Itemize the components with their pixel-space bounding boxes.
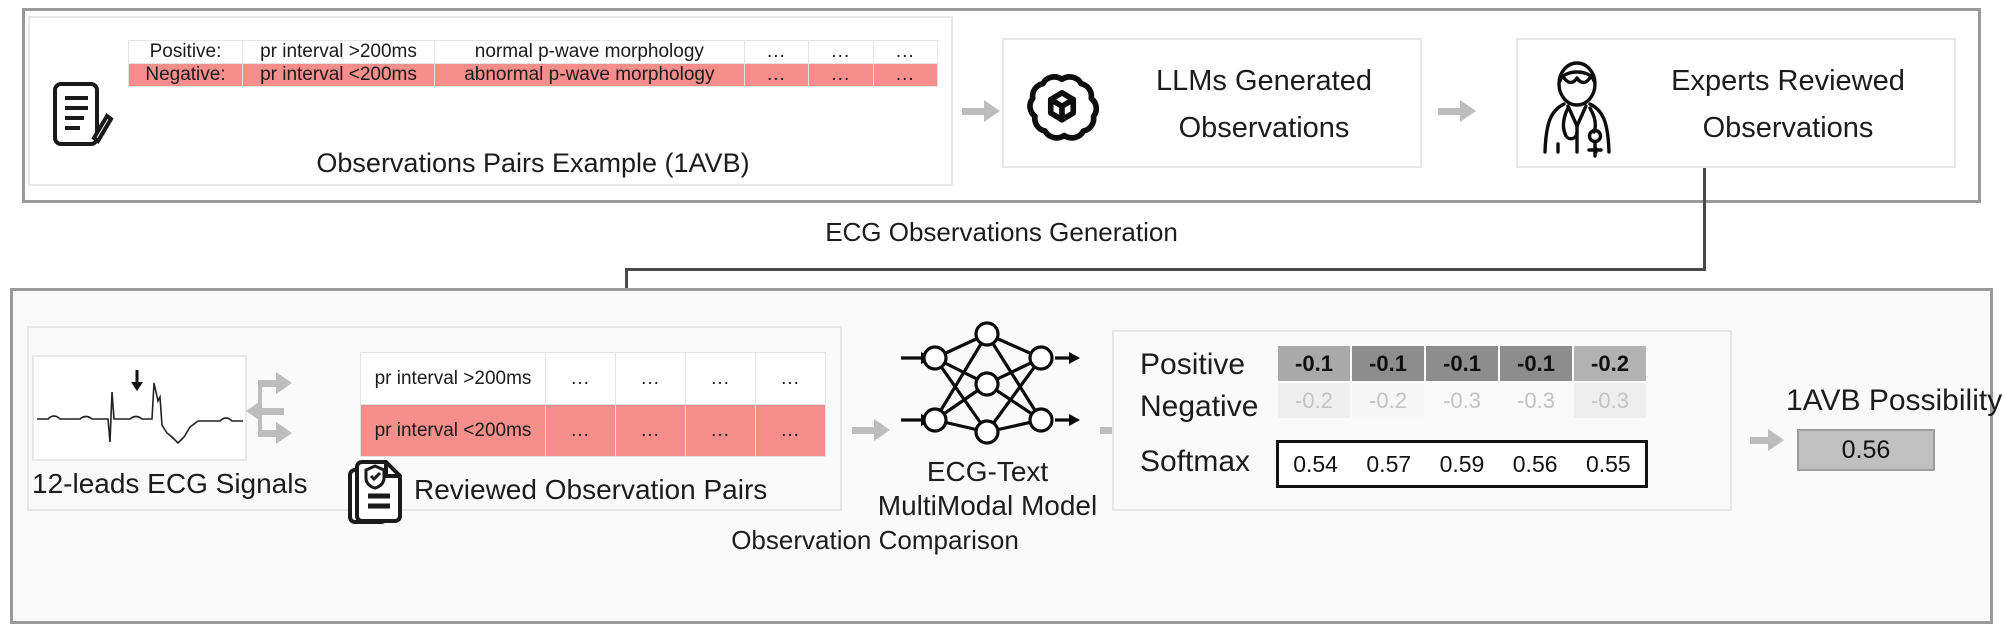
observation-comparison-caption: Observation Comparison: [0, 525, 1750, 556]
softmax-value: 0.56: [1513, 451, 1558, 478]
matrix-cell: -0.3: [1574, 383, 1646, 418]
matrix-cell: -0.1: [1426, 346, 1498, 381]
result-label: 1AVB Possibility: [1786, 384, 2002, 418]
observations-pairs-example-caption: Observations Pairs Example (1AVB): [128, 148, 938, 179]
matrix-cell: -0.3: [1500, 383, 1572, 418]
experts-reviewed-observations-box: Experts Reviewed Observations: [1516, 38, 1956, 168]
softmax-value: 0.55: [1586, 451, 1631, 478]
cell: ...: [686, 353, 756, 405]
cell: ...: [616, 353, 686, 405]
ecg-signal-box: [32, 355, 247, 461]
positive-row-label: Positive: [1140, 348, 1245, 382]
cell: ...: [873, 41, 937, 64]
matrix-cell: -0.2: [1278, 383, 1350, 418]
expert-to-table-connector-h: [625, 268, 1706, 271]
table-row: pr interval >200ms ... ... ... ...: [361, 353, 826, 405]
softmax-value: 0.57: [1366, 451, 1411, 478]
reviewed-document-icon: [348, 460, 406, 526]
matrix-cell: -0.1: [1500, 346, 1572, 381]
cell: ...: [616, 405, 686, 457]
result-value-box: 0.56: [1797, 429, 1935, 471]
down-arrow-marker-icon: [130, 370, 144, 392]
matrix-cell: -0.2: [1352, 383, 1424, 418]
table-row: Negative: pr interval <200ms abnormal p-…: [129, 64, 938, 87]
pairs-to-model-arrow: [874, 419, 890, 441]
reviewed-observation-pairs-label: Reviewed Observation Pairs: [414, 474, 767, 506]
openai-logo-icon: [1026, 68, 1098, 140]
table-row: Positive: pr interval >200ms normal p-wa…: [129, 41, 938, 64]
negative-row-label: Negative: [1140, 390, 1258, 424]
cell: ...: [873, 64, 937, 87]
cell: ...: [744, 64, 808, 87]
row-label: Negative:: [129, 64, 243, 87]
ecg-pairs-arrow-bot: [276, 422, 292, 444]
cell: ...: [546, 405, 616, 457]
ecg-pairs-arrow-top: [276, 372, 292, 394]
softmax-value: 0.54: [1293, 451, 1338, 478]
llm-box-line-1: LLMs Generated: [1114, 65, 1414, 98]
flow-arrow-2: [1460, 100, 1476, 122]
cell: pr interval >200ms: [242, 41, 434, 64]
cell: pr interval <200ms: [361, 405, 546, 457]
cell: ...: [809, 41, 873, 64]
pairs-to-model-arrow-shaft: [852, 427, 874, 434]
cell: ...: [744, 41, 808, 64]
scores-to-result-arrow-shaft: [1750, 437, 1768, 444]
matrix-row-positive: -0.1 -0.1 -0.1 -0.1 -0.2: [1278, 346, 1646, 381]
ecg-signal-label: 12-leads ECG Signals: [32, 468, 247, 500]
score-matrix: -0.1 -0.1 -0.1 -0.1 -0.2 -0.2 -0.2 -0.3 …: [1276, 344, 1648, 420]
reviewed-observation-pairs-table: pr interval >200ms ... ... ... ... pr in…: [360, 352, 826, 457]
cell: pr interval >200ms: [361, 353, 546, 405]
flow-arrow-shaft: [1438, 108, 1460, 115]
matrix-cell: -0.2: [1574, 346, 1646, 381]
cell: ...: [756, 353, 826, 405]
cell: ...: [756, 405, 826, 457]
flow-arrow-shaft: [962, 108, 984, 115]
matrix-cell: -0.3: [1426, 383, 1498, 418]
llm-box-line-2: Observations: [1114, 112, 1414, 145]
ecg-pairs-arrow-riser: [258, 380, 262, 436]
cell: ...: [686, 405, 756, 457]
softmax-values-box: 0.54 0.57 0.59 0.56 0.55: [1276, 440, 1648, 488]
cell: pr interval <200ms: [242, 64, 434, 87]
figure-root: Positive: pr interval >200ms normal p-wa…: [0, 0, 2003, 632]
cell: ...: [546, 353, 616, 405]
cell: ...: [809, 64, 873, 87]
matrix-row-negative: -0.2 -0.2 -0.3 -0.3 -0.3: [1278, 383, 1646, 418]
table-row: pr interval <200ms ... ... ... ...: [361, 405, 826, 457]
neural-network-icon: [895, 322, 1080, 447]
expert-to-table-connector-v1: [1703, 168, 1706, 270]
matrix-cell: -0.1: [1352, 346, 1424, 381]
model-name-line-1: ECG-Text: [880, 456, 1095, 488]
flow-arrow-1: [984, 100, 1000, 122]
observations-pairs-table: Positive: pr interval >200ms normal p-wa…: [128, 40, 938, 87]
model-name-line-2: MultiModal Model: [860, 490, 1115, 522]
scores-to-result-arrow: [1768, 429, 1784, 451]
cell: abnormal p-wave morphology: [434, 64, 744, 87]
doctor-icon: [1534, 56, 1620, 156]
cell: normal p-wave morphology: [434, 41, 744, 64]
expert-box-line-2: Observations: [1628, 112, 1948, 145]
matrix-cell: -0.1: [1278, 346, 1350, 381]
llm-generated-observations-box: LLMs Generated Observations: [1002, 38, 1422, 168]
row-label: Positive:: [129, 41, 243, 64]
note-edit-icon: [50, 80, 112, 152]
softmax-value: 0.59: [1440, 451, 1485, 478]
softmax-row-label: Softmax: [1140, 445, 1250, 479]
expert-box-line-1: Experts Reviewed: [1628, 65, 1948, 98]
